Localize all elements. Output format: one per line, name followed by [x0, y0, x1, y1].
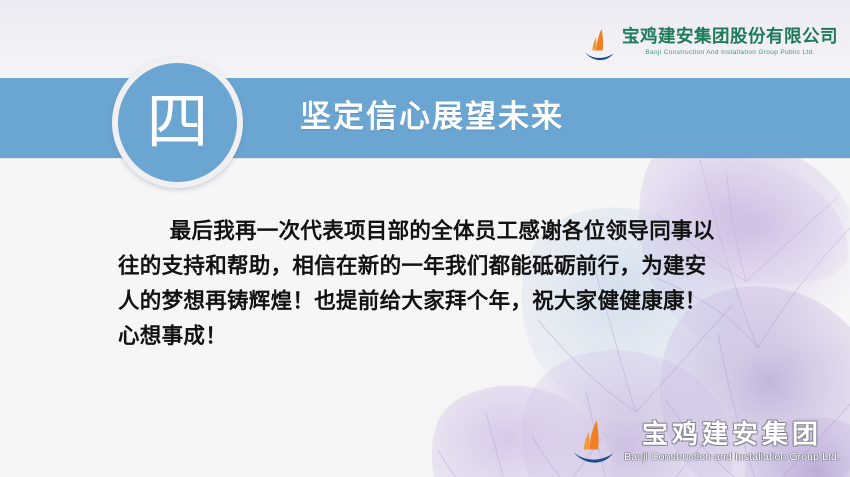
section-number-badge: 四	[112, 57, 243, 188]
company-name-en: Baoji Construction and Installation Grou…	[624, 450, 840, 464]
body-line-2: 往的支持和帮助，相信在新的一年我们都能砥砺前行，为建安	[118, 249, 718, 284]
sailboat-logo-icon	[571, 419, 615, 465]
section-title: 坚定信心展望未来	[300, 97, 564, 137]
company-logo-header: 宝鸡建安集团股份有限公司 Baoji Construction And Inst…	[583, 26, 838, 62]
body-line-4: 心想事成！	[118, 319, 718, 354]
company-name-cn: 宝鸡建安集团股份有限公司	[622, 26, 838, 47]
slide-body-text: 最后我再一次代表项目部的全体员工感谢各位领导同事以 往的支持和帮助，相信在新的一…	[118, 214, 718, 354]
sailboat-logo-icon	[583, 28, 615, 62]
company-logo-footer: 宝鸡建安集团 Baoji Construction and Installati…	[571, 419, 840, 465]
company-name-cn: 宝鸡建安集团	[642, 420, 822, 449]
presentation-slide: 四 坚定信心展望未来 宝鸡建安集团股份有限公司 Baoji Constructi…	[0, 0, 850, 477]
company-name-en: Baoji Construction And Installation Grou…	[622, 48, 838, 58]
body-line-1: 最后我再一次代表项目部的全体员工感谢各位领导同事以	[118, 214, 718, 249]
section-number-text: 四	[146, 91, 208, 153]
body-line-3: 人的梦想再铸辉煌！也提前给大家拜个年，祝大家健健康康！	[118, 284, 718, 319]
